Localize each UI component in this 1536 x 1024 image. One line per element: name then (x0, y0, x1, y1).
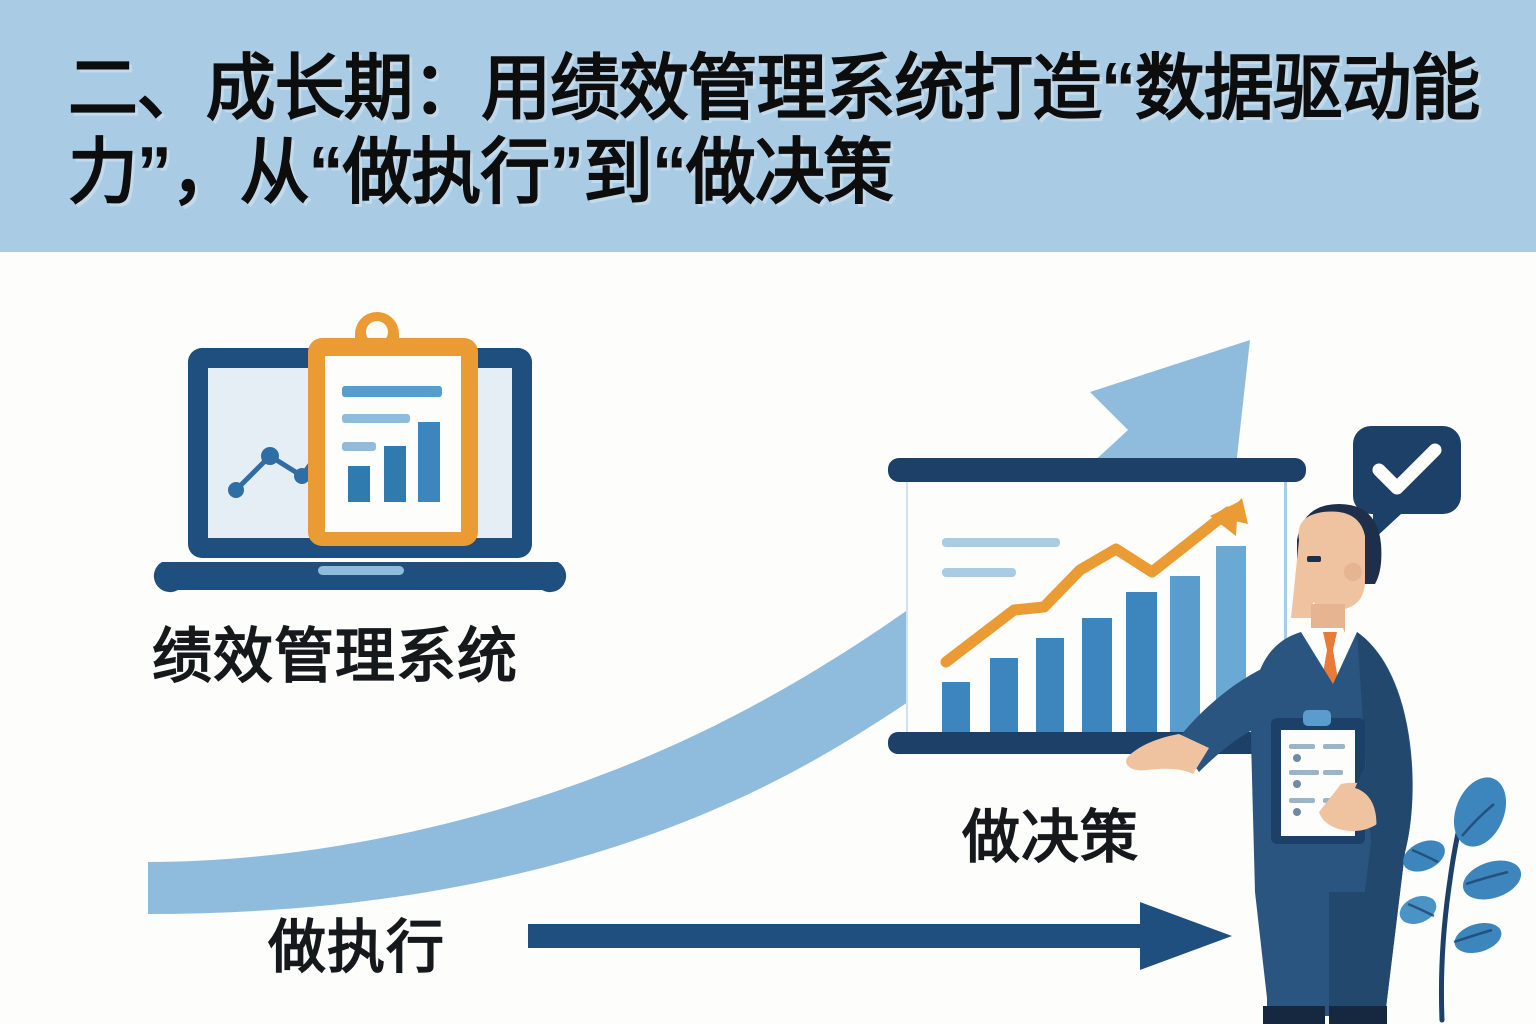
bar (1036, 638, 1064, 732)
annotation-line-long (942, 538, 1060, 547)
leg-left (1267, 892, 1325, 1016)
right-arrow-icon (528, 900, 1238, 972)
page-title: 二、成长期：用绩效管理系统打造“数据驱动能力”，从“做执行”到“做决策 (68, 48, 1536, 215)
eye (1307, 556, 1321, 562)
shoe-left (1263, 1006, 1325, 1024)
shoe-right (1329, 1006, 1387, 1024)
infographic-canvas: 二、成长期：用绩效管理系统打造“数据驱动能力”，从“做执行”到“做决策 (0, 0, 1536, 1024)
bar (1082, 618, 1112, 732)
label-performance-system: 绩效管理系统 (152, 608, 518, 695)
plant-icon (1382, 770, 1536, 1024)
leg-right (1329, 892, 1385, 1016)
header-band: 二、成长期：用绩效管理系统打造“数据驱动能力”，从“做执行”到“做决策 (0, 0, 1536, 252)
label-do-execution: 做执行 (268, 900, 445, 984)
bar (1126, 592, 1157, 732)
bar (990, 658, 1018, 732)
label-do-decision: 做决策 (962, 790, 1139, 874)
bar (1170, 576, 1200, 732)
clipboard-icon (308, 312, 478, 546)
illustration-area: 绩效管理系统 (0, 252, 1536, 1024)
laptop-icon (150, 290, 570, 610)
bar (942, 682, 970, 732)
annotation-line-short (942, 568, 1016, 577)
